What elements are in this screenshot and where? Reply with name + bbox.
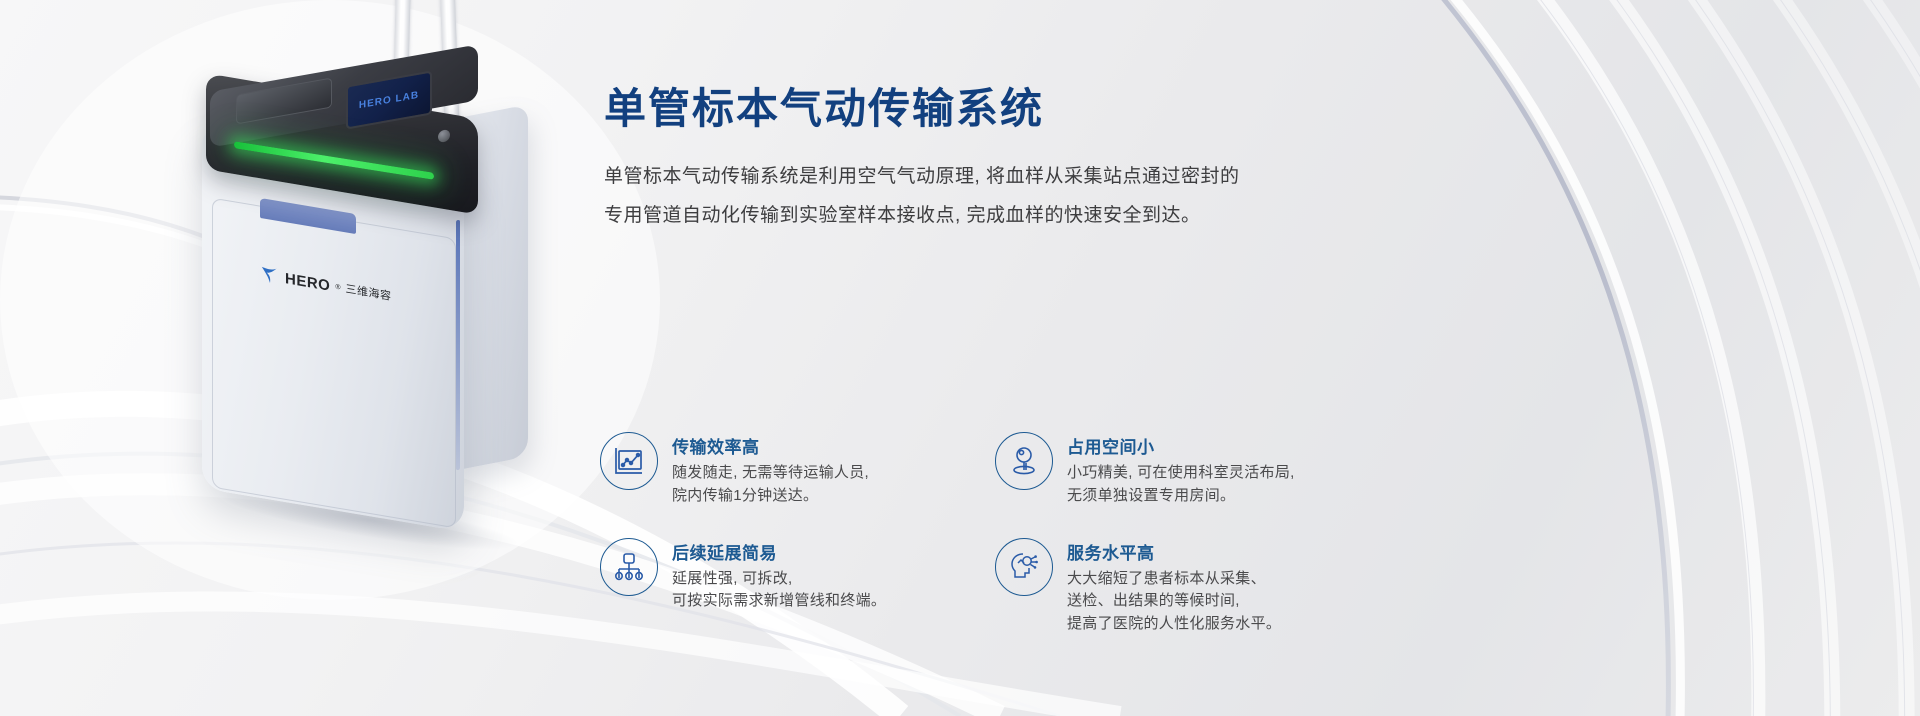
feature-line: 送检、出结果的等候时间,: [1067, 590, 1281, 613]
screen-logo-label: HERO LAB: [359, 89, 419, 111]
device-drawer-outline: [212, 198, 456, 529]
feature-line: 大大缩短了患者标本从采集、: [1067, 568, 1281, 591]
feature-title: 服务水平高: [1067, 539, 1281, 564]
banner-description: 单管标本气动传输系统是利用空气气动原理, 将血样从采集站点通过密封的专用管道自动…: [604, 158, 1254, 236]
device-blue-edge: [456, 220, 460, 471]
feature-line: 无须单独设置专用房间。: [1067, 485, 1295, 508]
feature-description: 随发随走, 无需等待运输人员, 院内传输1分钟送达。: [672, 462, 869, 508]
feature-line: 小巧精美, 可在使用科室灵活布局,: [1067, 462, 1295, 485]
feature-text: 占用空间小 小巧精美, 可在使用科室灵活布局, 无须单独设置专用房间。: [1067, 432, 1295, 508]
location-area-icon: [995, 432, 1053, 490]
feature-description: 大大缩短了患者标本从采集、 送检、出结果的等候时间, 提高了医院的人性化服务水平…: [1067, 568, 1281, 636]
product-image: HERO LAB HERO ® 三维海容: [150, 0, 630, 610]
network-hierarchy-icon: [600, 538, 658, 596]
feature-line: 随发随走, 无需等待运输人员,: [672, 462, 869, 485]
feature-grid: 传输效率高 随发随走, 无需等待运输人员, 院内传输1分钟送达。 占用空间小: [600, 432, 1300, 636]
feature-title: 传输效率高: [672, 433, 869, 458]
network-hierarchy-glyph: [612, 550, 646, 584]
hero-bird-icon: [260, 265, 280, 286]
feature-text: 传输效率高 随发随走, 无需等待运输人员, 院内传输1分钟送达。: [672, 432, 869, 508]
feature-line: 院内传输1分钟送达。: [672, 485, 869, 508]
feature-item: 后续延展简易 延展性强, 可拆改, 可按实际需求新增管线和终端。: [600, 538, 995, 636]
feature-line: 延展性强, 可拆改,: [672, 568, 886, 591]
smart-head-glyph: [1007, 550, 1041, 584]
feature-description: 小巧精美, 可在使用科室灵活布局, 无须单独设置专用房间。: [1067, 462, 1295, 508]
feature-item: 服务水平高 大大缩短了患者标本从采集、 送检、出结果的等候时间, 提高了医院的人…: [995, 538, 1315, 636]
product-banner: HERO LAB HERO ® 三维海容 单管标本气动传输系统 单管标本气动传输…: [0, 0, 1920, 716]
arc-family-right: [1310, 0, 1920, 716]
feature-title: 占用空间小: [1067, 433, 1295, 458]
brand-registered-mark: ®: [335, 283, 340, 291]
feature-line: 可按实际需求新增管线和终端。: [672, 590, 886, 613]
feature-text: 后续延展简易 延展性强, 可拆改, 可按实际需求新增管线和终端。: [672, 538, 886, 614]
feature-item: 传输效率高 随发随走, 无需等待运输人员, 院内传输1分钟送达。: [600, 432, 995, 508]
smart-head-icon: [995, 538, 1053, 596]
chart-trend-icon: [600, 432, 658, 490]
feature-text: 服务水平高 大大缩短了患者标本从采集、 送检、出结果的等候时间, 提高了医院的人…: [1067, 538, 1281, 636]
feature-description: 延展性强, 可拆改, 可按实际需求新增管线和终端。: [672, 568, 886, 614]
feature-title: 后续延展简易: [672, 539, 886, 564]
feature-line: 提高了医院的人性化服务水平。: [1067, 613, 1281, 636]
chart-trend-glyph: [612, 444, 646, 478]
page-title: 单管标本气动传输系统: [604, 86, 1284, 132]
feature-item: 占用空间小 小巧精美, 可在使用科室灵活布局, 无须单独设置专用房间。: [995, 432, 1315, 508]
arc-hairlines-right: [1395, 0, 1920, 716]
banner-content: 单管标本气动传输系统 单管标本气动传输系统是利用空气气动原理, 将血样从采集站点…: [604, 86, 1284, 236]
location-area-glyph: [1007, 444, 1041, 478]
